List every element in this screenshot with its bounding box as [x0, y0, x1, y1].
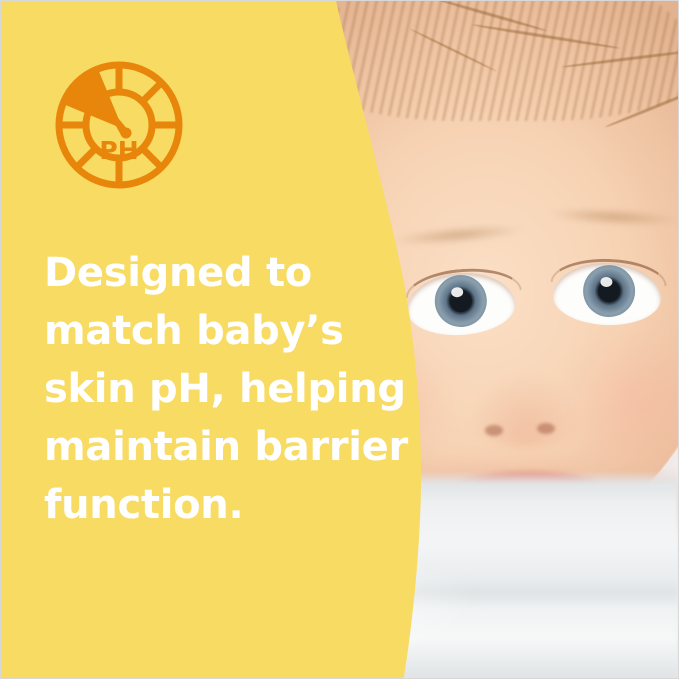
gauge-spoke: [142, 85, 159, 102]
gauge-spoke: [142, 148, 159, 165]
panel-content: PH Designed to match baby’s skin pH, hel…: [1, 1, 431, 679]
ph-icon-label: PH: [99, 136, 138, 165]
nostril-right: [537, 423, 555, 434]
nose: [471, 373, 581, 447]
nostril-left: [485, 425, 503, 436]
product-benefit-banner: PH Designed to match baby’s skin pH, hel…: [0, 0, 679, 679]
ph-gauge-icon: PH: [53, 59, 185, 191]
gauge-spoke: [79, 148, 96, 165]
headline-text: Designed to match baby’s skin pH, helpin…: [44, 244, 416, 534]
